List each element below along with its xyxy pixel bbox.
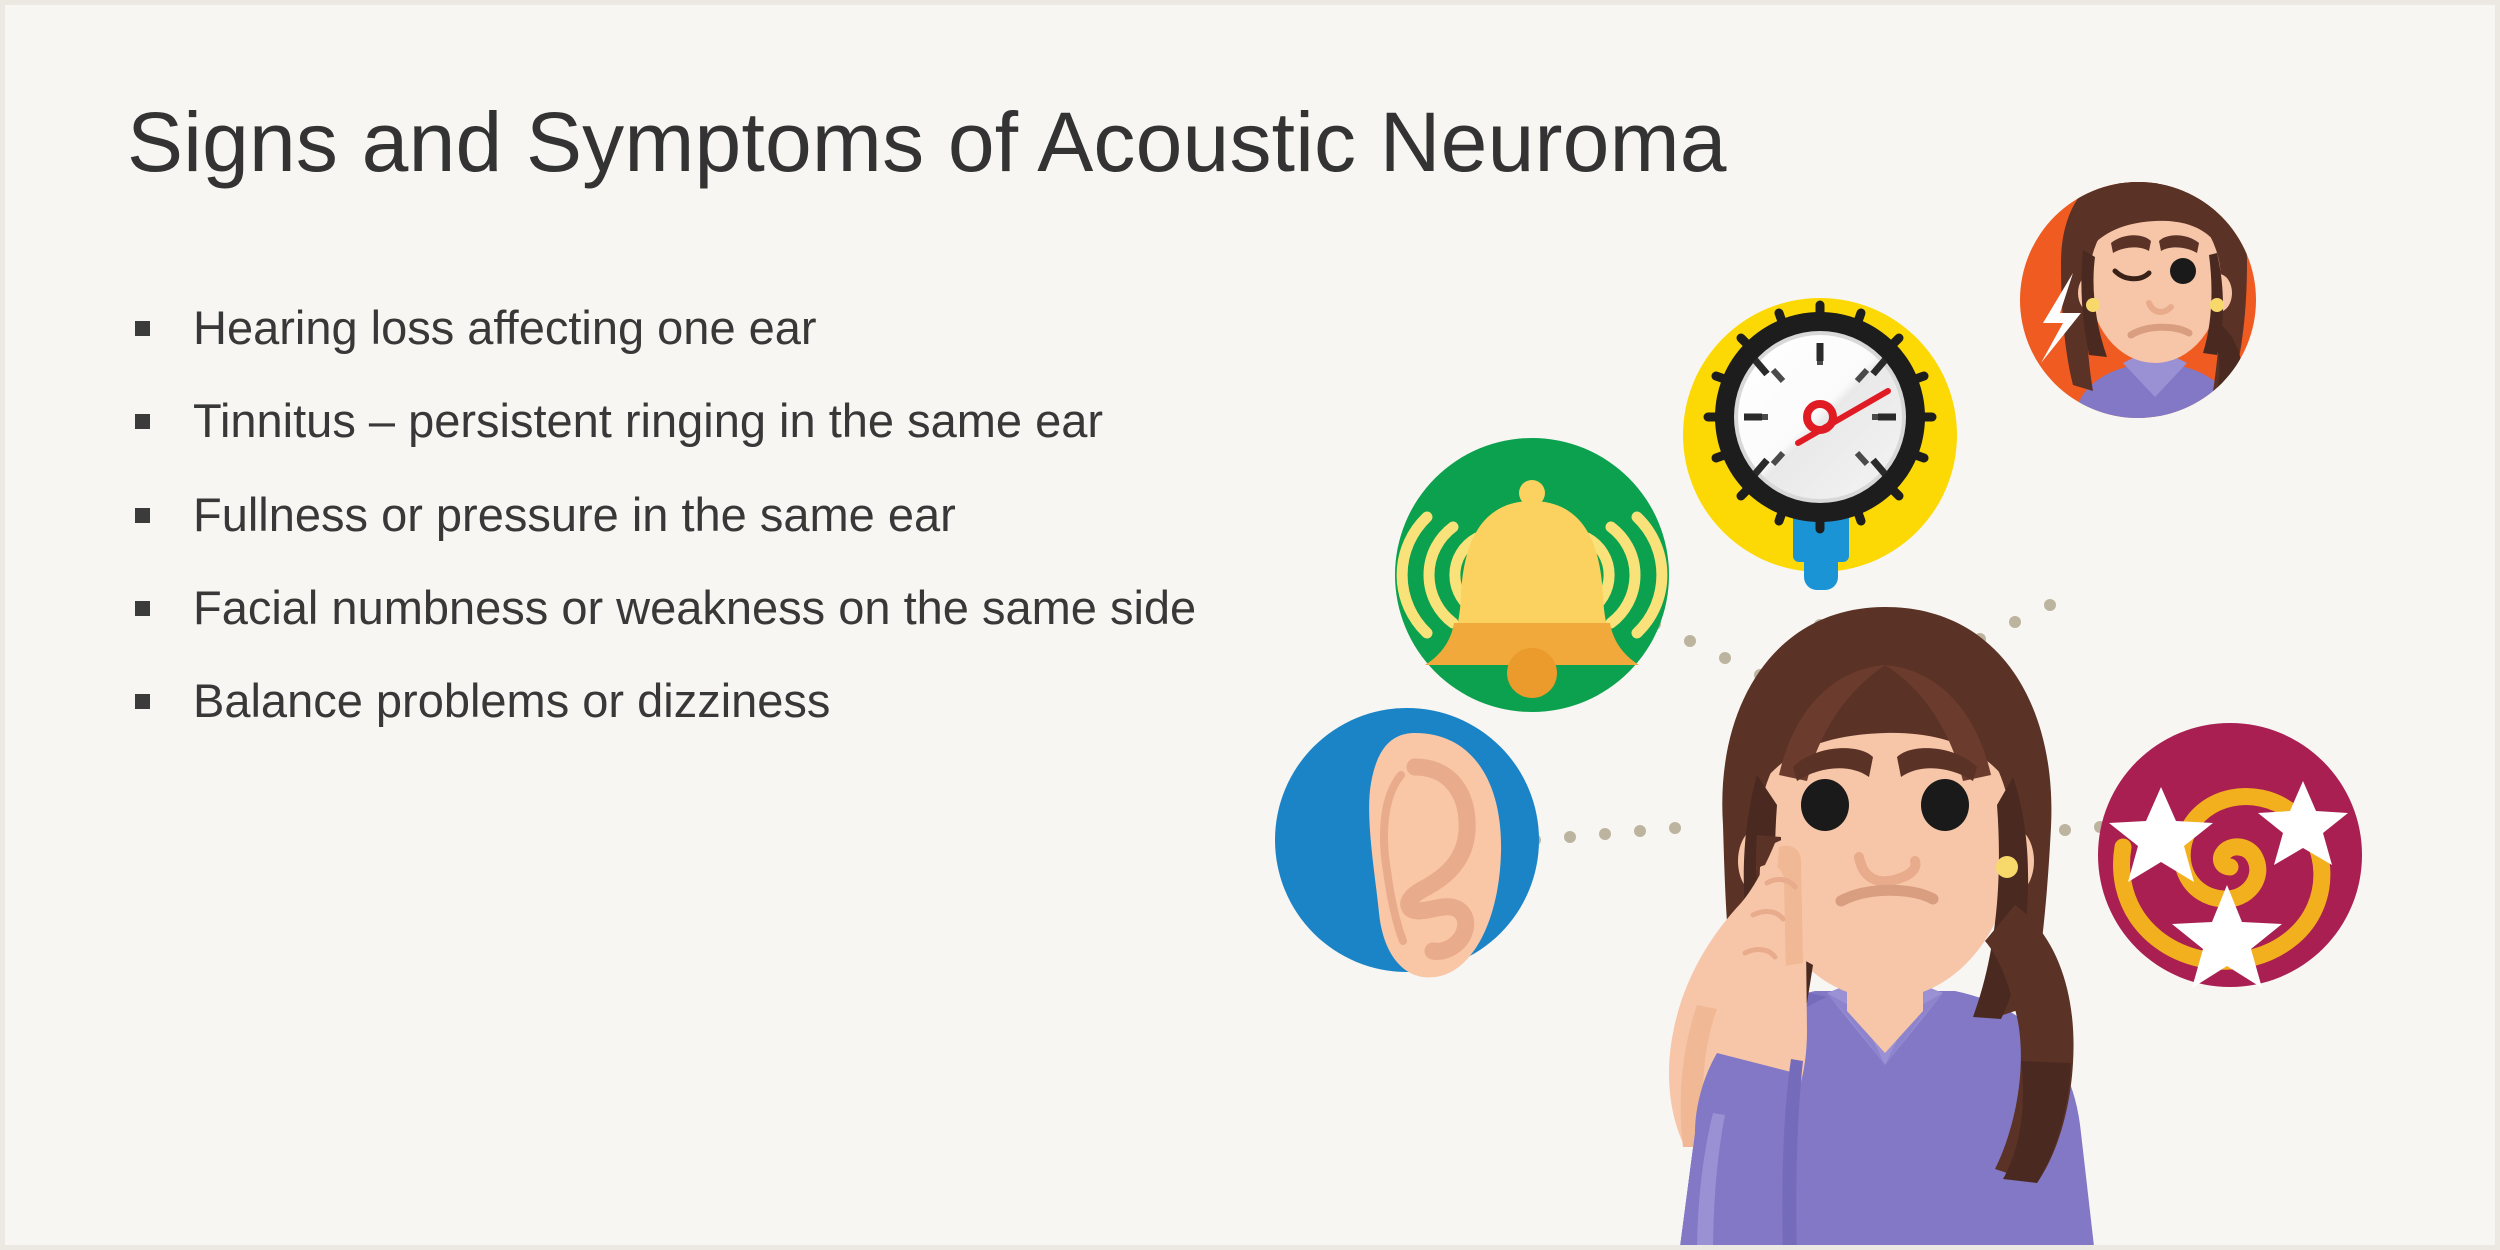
- page-title: Signs and Symptoms of Acoustic Neuroma: [127, 100, 1307, 184]
- list-item: Balance problems or dizziness: [127, 672, 1307, 729]
- list-item: Fullness or pressure in the same ear: [127, 486, 1307, 543]
- bullet-square-icon: [135, 601, 150, 616]
- facial-weakness-icon: [2020, 160, 2256, 435]
- list-item: Facial numbness or weakness on the same …: [127, 579, 1307, 636]
- symptom-list: Hearing loss affecting one ear Tinnitus …: [127, 299, 1307, 730]
- bell-icon: [1395, 438, 1669, 712]
- symptom-text: Tinnitus – persistent ringing in the sam…: [193, 392, 1307, 449]
- bullet-square-icon: [135, 414, 150, 429]
- pressure-gauge-icon: [1683, 298, 1957, 590]
- infographic-canvas: Signs and Symptoms of Acoustic Neuroma H…: [0, 0, 2500, 1250]
- list-item: Hearing loss affecting one ear: [127, 299, 1307, 356]
- symptom-text: Fullness or pressure in the same ear: [193, 486, 1307, 543]
- symptom-text: Hearing loss affecting one ear: [193, 299, 1307, 356]
- bullet-square-icon: [135, 694, 150, 709]
- symptom-text: Facial numbness or weakness on the same …: [193, 579, 1307, 636]
- bullet-square-icon: [135, 508, 150, 523]
- illustration-area: [1255, 5, 2500, 1250]
- bullet-square-icon: [135, 321, 150, 336]
- dizziness-spiral-icon: [2098, 723, 2362, 988]
- list-item: Tinnitus – persistent ringing in the sam…: [127, 392, 1307, 449]
- ear-icon: [1275, 708, 1539, 977]
- symptom-text: Balance problems or dizziness: [193, 672, 1307, 729]
- text-column: Signs and Symptoms of Acoustic Neuroma H…: [127, 100, 1307, 766]
- woman-holding-ear: [1669, 607, 2095, 1250]
